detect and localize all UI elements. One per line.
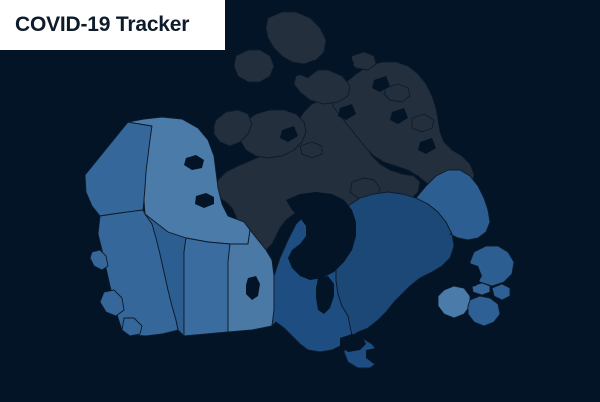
- canada-choropleth-map[interactable]: [0, 0, 600, 402]
- map-svg: [0, 0, 600, 402]
- title-banner: COVID-19 Tracker: [0, 0, 225, 50]
- covid-tracker-map-page: COVID-19 Tracker: [0, 0, 600, 402]
- region-saskatchewan[interactable]: [184, 238, 230, 336]
- page-title: COVID-19 Tracker: [15, 13, 189, 37]
